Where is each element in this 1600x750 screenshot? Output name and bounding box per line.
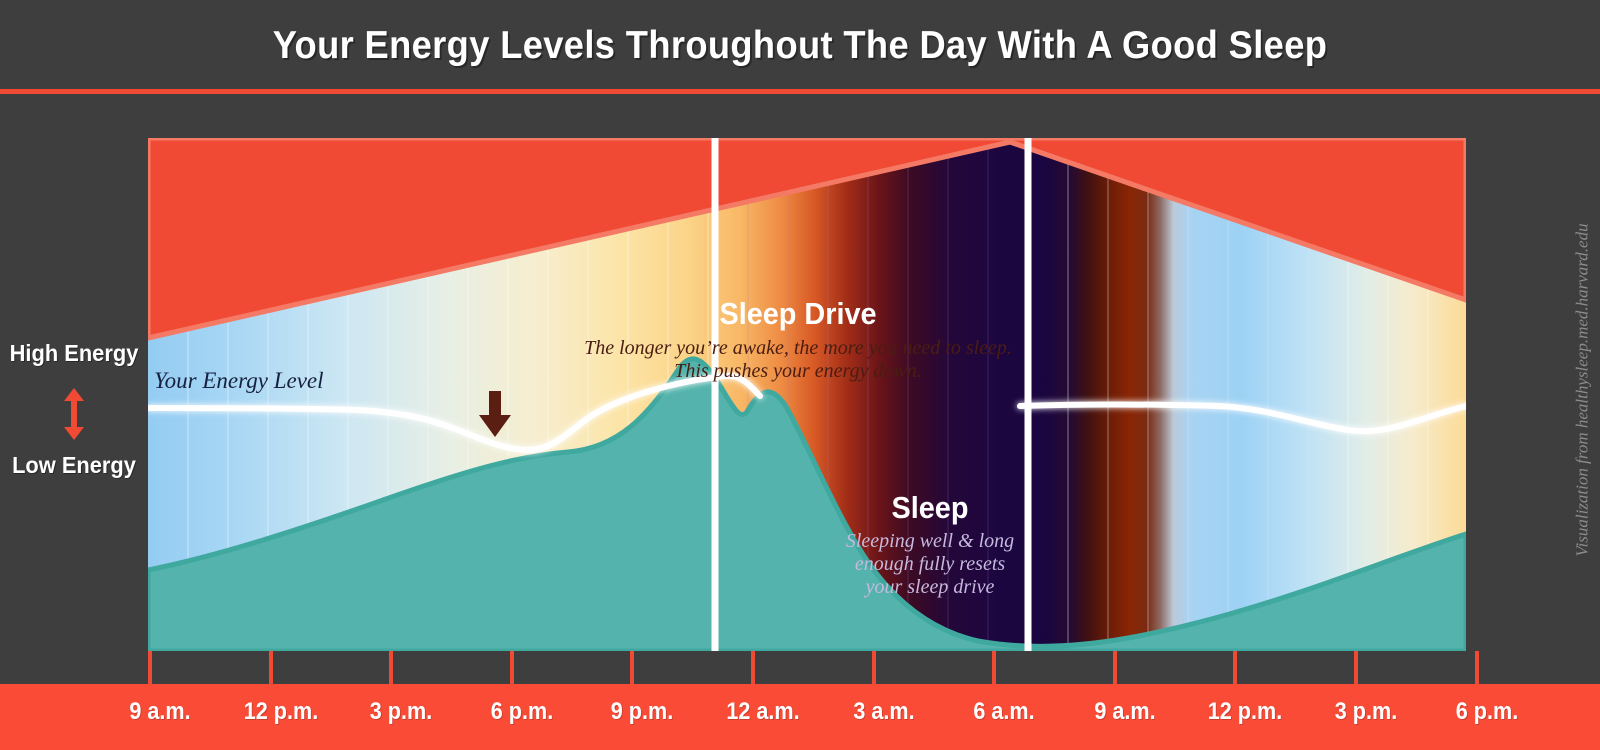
high-energy-label: High Energy	[4, 340, 145, 367]
sleep-heading: Sleep	[772, 490, 1088, 526]
x-axis-tick	[148, 651, 152, 684]
x-axis-label: 6 p.m.	[1455, 698, 1517, 726]
sleep-drive-line1: The longer you’re awake, the more you ne…	[478, 337, 1118, 360]
sleep-annotation: Sleep Sleeping well & long enough fully …	[760, 490, 1100, 600]
sleep-line2: enough fully resets	[760, 553, 1100, 576]
attribution-text: Visualization from healthysleep.med.harv…	[1573, 223, 1593, 556]
double-arrow-vertical-icon	[62, 388, 86, 440]
x-axis-label: 6 p.m.	[491, 698, 553, 726]
x-axis-label: 12 p.m.	[243, 698, 317, 726]
x-axis-tick	[1233, 651, 1237, 684]
x-axis-tick	[1354, 651, 1358, 684]
low-energy-label: Low Energy	[4, 452, 145, 479]
x-axis-tick	[630, 651, 634, 684]
arrow-down-icon	[478, 391, 512, 437]
x-axis-label: 12 p.m.	[1208, 698, 1282, 726]
x-axis-tick	[389, 651, 393, 684]
x-axis-label: 9 a.m.	[129, 698, 190, 726]
energy-chart: Your Energy Level Sleep Drive The longer…	[148, 138, 1466, 651]
energy-line-label: Your Energy Level	[154, 368, 324, 394]
x-axis-tick	[992, 651, 996, 684]
x-axis-tick	[751, 651, 755, 684]
x-axis-label: 6 a.m.	[974, 698, 1035, 726]
title-divider-rule	[0, 89, 1600, 94]
x-axis-tick	[510, 651, 514, 684]
y-axis-legend: High Energy Low Energy	[0, 330, 148, 490]
x-axis-label: 3 a.m.	[853, 698, 914, 726]
x-axis-tick	[872, 651, 876, 684]
page-title: Your Energy Levels Throughout The Day Wi…	[273, 24, 1328, 68]
x-axis-tick-band	[0, 651, 1600, 684]
title-bar: Your Energy Levels Throughout The Day Wi…	[0, 0, 1600, 92]
sleep-drive-line2: This pushes your energy down.	[478, 360, 1118, 383]
x-axis-tick	[1113, 651, 1117, 684]
x-axis-tick	[1475, 651, 1479, 684]
attribution: Visualization from healthysleep.med.harv…	[1572, 140, 1594, 640]
x-axis-tick	[269, 651, 273, 684]
sleep-line3: your sleep drive	[760, 576, 1100, 599]
sleep-line1: Sleeping well & long	[760, 530, 1100, 553]
x-axis-label: 9 p.m.	[611, 698, 673, 726]
sleep-drive-heading: Sleep Drive	[500, 296, 1095, 332]
sleep-drive-annotation: Sleep Drive The longer you’re awake, the…	[478, 296, 1118, 437]
x-axis-label: 12 a.m.	[726, 698, 799, 726]
x-axis-bar: 9 a.m.12 p.m.3 p.m.6 p.m.9 p.m.12 a.m.3 …	[0, 684, 1600, 750]
x-axis-label: 9 a.m.	[1094, 698, 1155, 726]
x-axis-label: 3 p.m.	[370, 698, 432, 726]
x-axis-label: 3 p.m.	[1335, 698, 1397, 726]
